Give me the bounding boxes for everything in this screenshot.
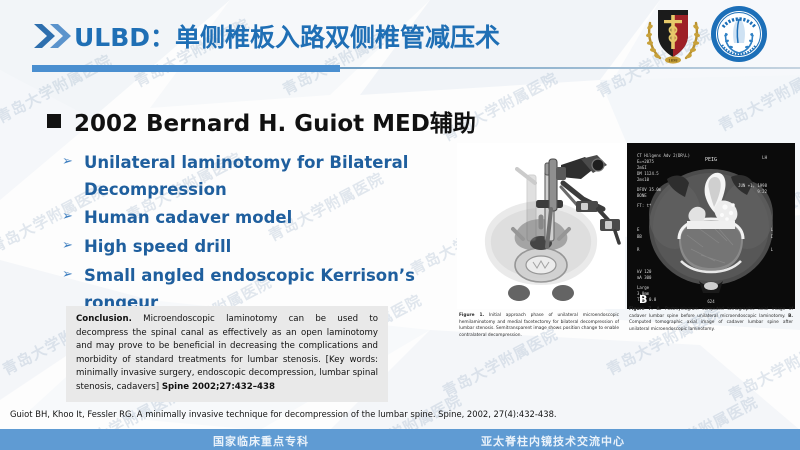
footer-right-label: 亚太脊柱内镜技术交流中心	[481, 433, 625, 449]
abstract-body: Microendoscopic laminotomy can be used t…	[76, 314, 378, 392]
figure-panel-marker: B	[639, 293, 647, 306]
svg-text:mA 300: mA 300	[637, 275, 652, 280]
list-item: ➢ Human cadaver model	[62, 205, 482, 232]
svg-text:FT: t*: FT: t*	[637, 203, 652, 208]
svg-text:E=+2075: E=+2075	[637, 159, 654, 164]
slide-content: 2002 Bernard H. Guiot MED辅助 ➢ Unilateral…	[0, 0, 800, 450]
citation-reference: Guiot BH, Khoo It, Fessler RG. A minimal…	[10, 409, 557, 419]
list-item-label: Unilateral laminotomy for Bilateral Deco…	[84, 150, 482, 203]
arrow-bullet-icon: ➢	[62, 234, 84, 252]
arrow-bullet-icon: ➢	[62, 263, 84, 281]
abstract-excerpt: Conclusion. Microendoscopic laminotomy c…	[66, 306, 388, 402]
svg-text:PEIG: PEIG	[705, 157, 717, 163]
svg-text:Large: Large	[637, 285, 650, 290]
abstract-lead: Conclusion.	[76, 314, 132, 324]
list-item: ➢ Unilateral laminotomy for Bilateral De…	[62, 150, 482, 203]
section-heading: 2002 Bernard H. Guiot MED辅助	[47, 104, 476, 138]
abstract-journal-ref: Spine 2002;27:432–438	[162, 382, 275, 392]
svg-text:2ms10: 2ms10	[637, 177, 650, 182]
arrow-bullet-icon: ➢	[62, 205, 84, 223]
svg-text:kV 120: kV 120	[637, 269, 652, 274]
svg-text:LH: LH	[762, 155, 767, 160]
arrow-bullet-icon: ➢	[62, 150, 84, 168]
figure-1-caption: Figure 1. Initial approach phase of unil…	[459, 313, 619, 339]
figure-7-caption: Figure 7. A. Postmyelogram computed tomo…	[629, 307, 793, 333]
slide: 青岛大学附属医院 青岛大学附属医院 青岛大学附属医院 青岛大学附属医院 青岛大学…	[0, 0, 800, 450]
figure-7-caption-lead: Figure 7.	[629, 307, 653, 312]
svg-text:CT Hilgens Adv 2(DR\L): CT Hilgens Adv 2(DR\L)	[637, 153, 690, 158]
list-item: ➢ High speed drill	[62, 234, 482, 261]
svg-text:DFOV 35.0m: DFOV 35.0m	[637, 187, 662, 192]
figure-7-panel-b-label: B.	[788, 314, 793, 319]
figure-7-panel-b-text: Computed tomographic axial image of cada…	[629, 320, 793, 332]
svg-text:624: 624	[707, 299, 715, 304]
axial-ct-myelogram-image: CT Hilgens Adv 2(DR\L) E=+2075 2mGI DM 1…	[627, 143, 795, 309]
bullet-list: ➢ Unilateral laminotomy for Bilateral De…	[62, 150, 482, 318]
figure-7-panel-a-text: Postmyelogram computed tomographic axial…	[629, 307, 793, 319]
svg-text:JUN +1, 1998: JUN +1, 1998	[738, 183, 767, 188]
svg-text:DM 1124.5: DM 1124.5	[637, 171, 659, 176]
svg-text:2mGI: 2mGI	[637, 165, 647, 170]
svg-text:9:22: 9:22	[757, 189, 767, 194]
list-item-label: High speed drill	[84, 234, 231, 261]
square-bullet-icon	[47, 114, 61, 128]
svg-text:BB: BB	[637, 234, 642, 239]
list-item-label: Human cadaver model	[84, 205, 292, 232]
slide-footer: 国家临床重点专科 亚太脊柱内镜技术交流中心	[0, 429, 800, 450]
footer-left-label: 国家临床重点专科	[213, 433, 309, 449]
figure-1-caption-lead: Figure 1.	[459, 313, 484, 318]
svg-text:BONE: BONE	[637, 193, 647, 198]
surgical-approach-illustration	[457, 143, 625, 309]
section-heading-text: 2002 Bernard H. Guiot MED辅助	[74, 104, 476, 138]
